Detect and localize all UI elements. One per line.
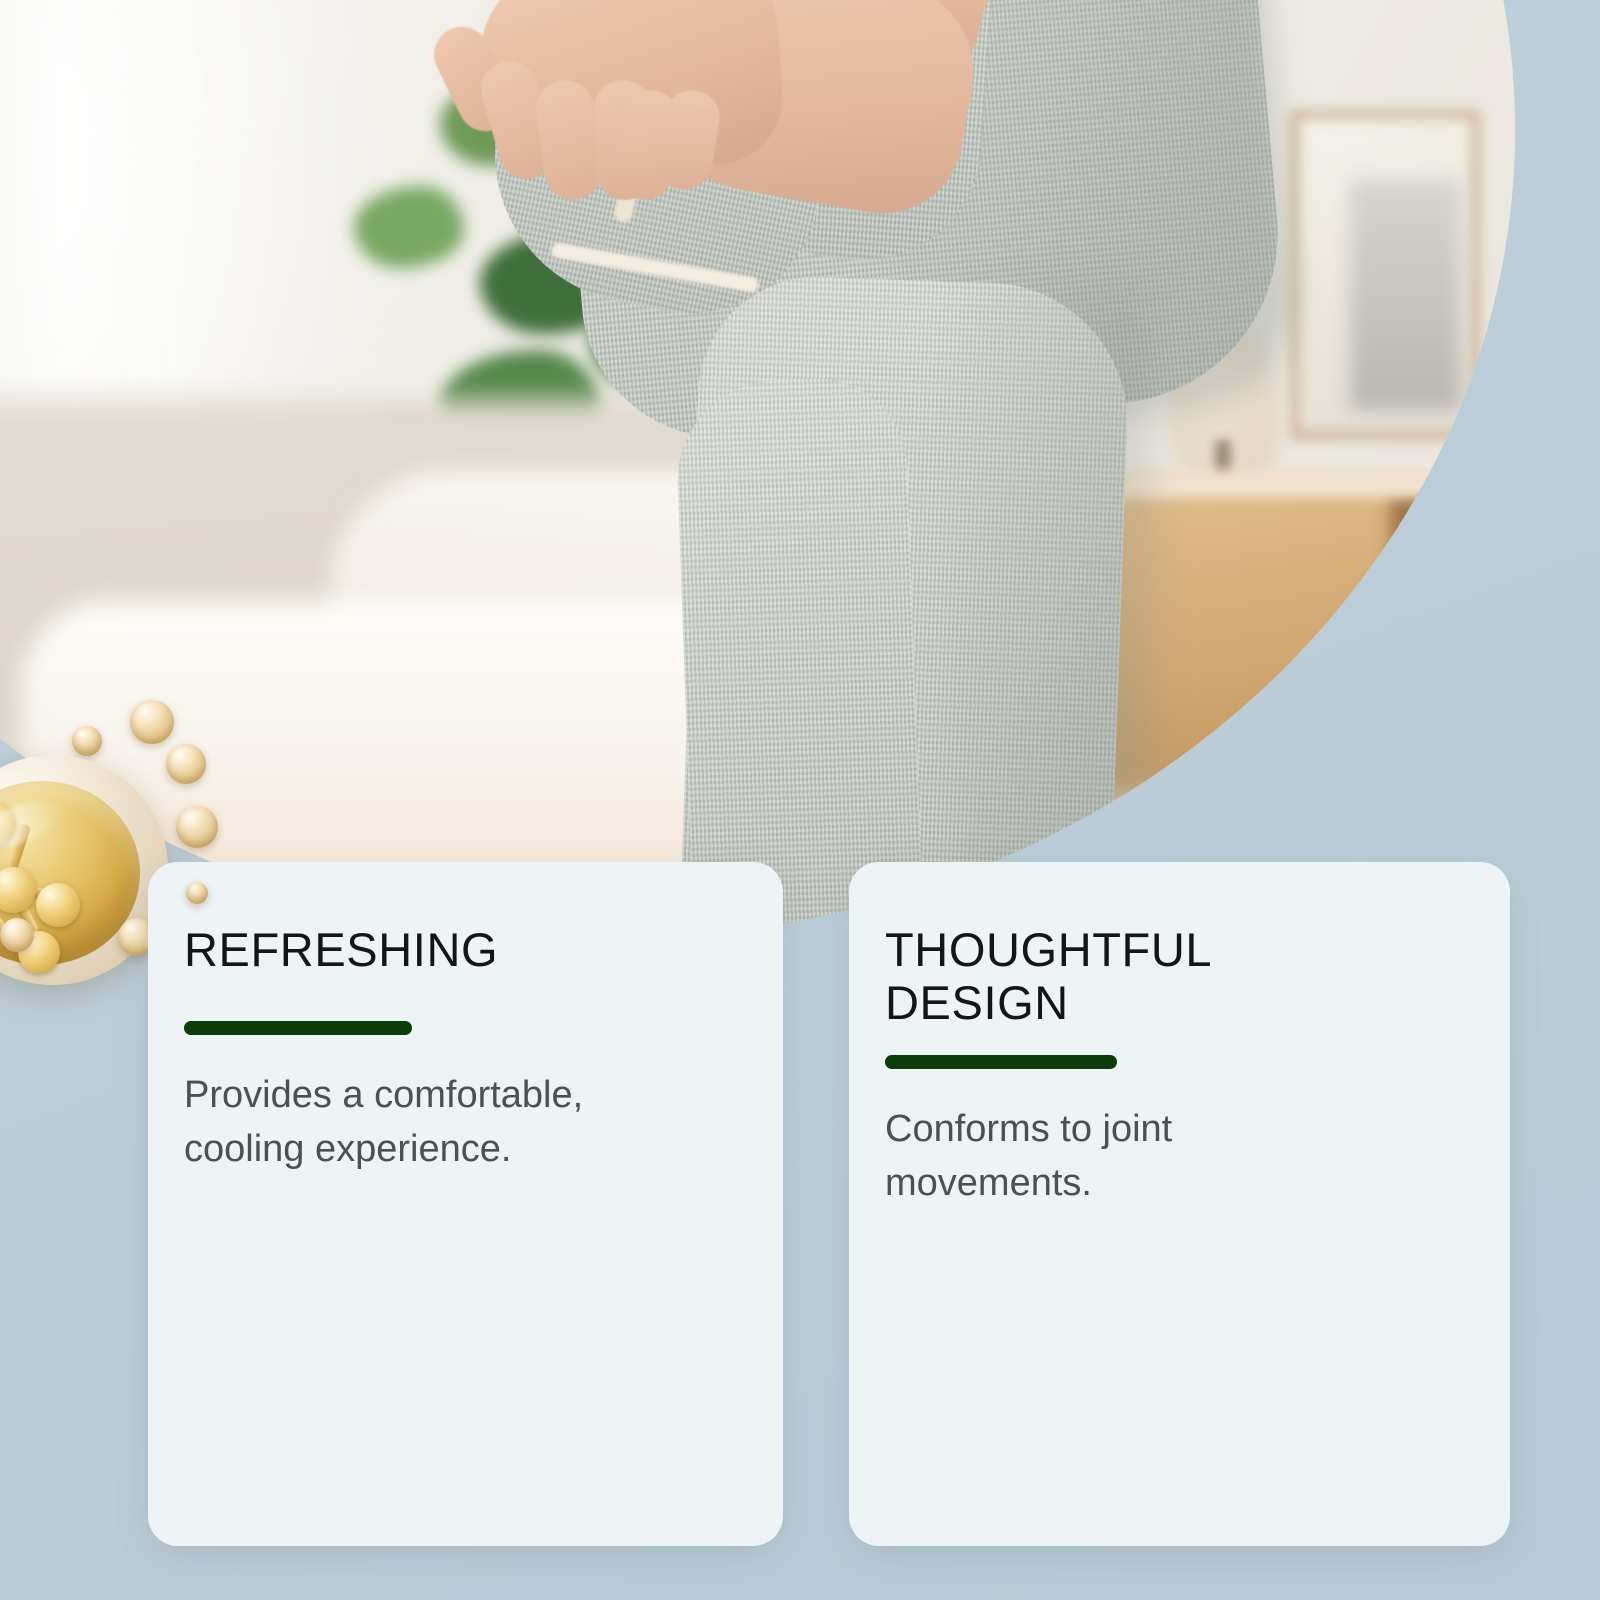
serum-droplet (72, 726, 102, 756)
person-figure (0, 0, 1515, 940)
molecule-atom (36, 883, 80, 927)
pajama-knee (674, 376, 925, 940)
feature-card-rule (885, 1055, 1117, 1069)
serum-droplet (166, 744, 206, 784)
feature-card-title: THOUGHTFUL DESIGN (885, 924, 1466, 1029)
serum-droplet (0, 918, 34, 952)
poster-canvas: REFRESHING Provides a comfortable, cooli… (0, 0, 1600, 1600)
feature-card-refreshing: REFRESHING Provides a comfortable, cooli… (148, 862, 783, 1546)
hero-photo-circle (0, 0, 1515, 940)
pajama-pants-shading (950, 280, 1150, 940)
feature-card-title: REFRESHING (184, 924, 739, 977)
serum-droplet (130, 700, 174, 744)
feature-card-body: Conforms to joint movements. (885, 1103, 1466, 1211)
serum-droplet (176, 806, 218, 848)
feature-card-rule (184, 1021, 412, 1035)
feature-card-body: Provides a comfortable, cooling experien… (184, 1069, 739, 1177)
serum-droplet (186, 882, 208, 904)
feature-card-thoughtful-design: THOUGHTFUL DESIGN Conforms to joint move… (849, 862, 1510, 1546)
